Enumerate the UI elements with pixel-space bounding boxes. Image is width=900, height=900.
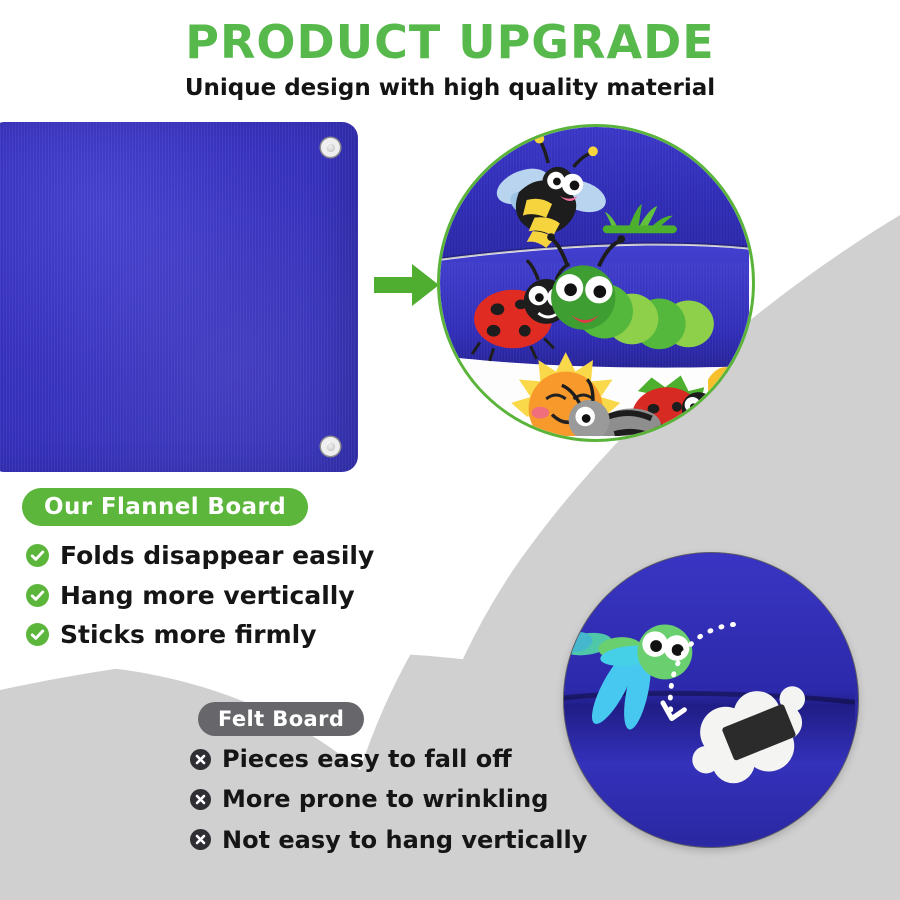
list-item: More prone to wrinkling <box>190 786 587 812</box>
list-item: Sticks more firmly <box>26 621 374 649</box>
cross-icon <box>190 749 211 770</box>
flannel-board-benefits-list: Folds disappear easily Hang more vertica… <box>26 542 374 661</box>
sticking-power-illustration <box>563 552 855 844</box>
felt-board-drawbacks-list: Pieces easy to fall off More prone to wr… <box>190 746 587 867</box>
list-item-label: Sticks more firmly <box>60 621 317 649</box>
felt-board-badge: Felt Board <box>198 702 364 736</box>
header: PRODUCT UPGRADE Unique design with high … <box>0 0 900 101</box>
list-item-label: Pieces easy to fall off <box>222 746 512 772</box>
top-right-grommet <box>321 138 340 157</box>
bottom-right-grommet <box>321 437 340 456</box>
list-item-label: Folds disappear easily <box>60 542 374 570</box>
check-icon <box>26 623 49 646</box>
cross-icon <box>190 829 211 850</box>
page-title: PRODUCT UPGRADE <box>0 18 900 66</box>
list-item-label: Not easy to hang vertically <box>222 827 587 853</box>
list-item: Not easy to hang vertically <box>190 827 587 853</box>
infographic-canvas: PRODUCT UPGRADE Unique design with high … <box>0 0 900 900</box>
flannel-board-badge: Our Flannel Board <box>22 488 308 526</box>
green-right-arrow-icon <box>372 258 442 312</box>
list-item-label: Hang more vertically <box>60 582 355 610</box>
cross-icon <box>190 789 211 810</box>
check-icon <box>26 584 49 607</box>
fabric-weave-texture <box>0 122 358 472</box>
detail-circle-felt-pieces <box>437 124 755 442</box>
page-subtitle: Unique design with high quality material <box>0 75 900 101</box>
list-item: Pieces easy to fall off <box>190 746 587 772</box>
check-icon <box>26 544 49 567</box>
list-item: Hang more vertically <box>26 582 374 610</box>
list-item: Folds disappear easily <box>26 542 374 570</box>
felt-pieces-illustration <box>437 124 749 436</box>
flannel-board-photo <box>0 122 358 472</box>
detail-circle-sticking-power <box>563 552 859 848</box>
list-item-label: More prone to wrinkling <box>222 786 548 812</box>
